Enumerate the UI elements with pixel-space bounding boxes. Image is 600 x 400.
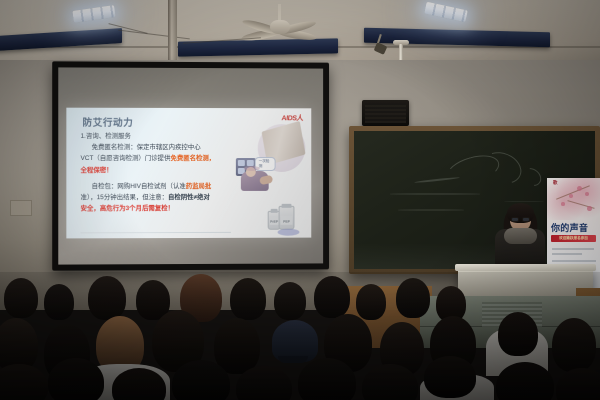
audience-head xyxy=(498,312,538,356)
audience-head xyxy=(356,284,386,320)
audience: 社 xyxy=(0,272,600,400)
audience-head xyxy=(274,282,306,320)
slide-highlight: 3个月后需复检！ xyxy=(126,205,174,212)
slide-line: 自检包：网购HIV自检试剂（认准药监局批 xyxy=(81,181,302,192)
poster-text-line xyxy=(552,248,594,250)
slide-body: 1.咨询、检测服务 免费匿名检测：保定市辖区内疾控中心 VCT（自愿咨询检测）门… xyxy=(81,131,302,215)
audience-head xyxy=(424,356,476,398)
audience-head xyxy=(314,276,350,318)
fan-motor xyxy=(270,20,290,34)
ceiling-fan xyxy=(243,16,317,50)
classroom-photo-scene: 防艾行动力 AIDS人 一次检测 xyxy=(0,0,600,400)
blossom-petal xyxy=(561,202,565,206)
slide-title: 防艾行动力 xyxy=(83,115,134,129)
poster-banner-text: 欢迎踊跃报名参加 xyxy=(551,236,596,241)
audience-head xyxy=(236,366,292,400)
slide-highlight-line: 全程保密！ xyxy=(81,165,302,176)
poster-text-line xyxy=(552,253,582,255)
slide-footer-rule xyxy=(81,232,231,233)
slide-line: VCT（自愿咨询检测）门诊提供免费匿名检测， xyxy=(81,153,302,164)
blossom-petal xyxy=(587,206,592,211)
projection-surface: 防艾行动力 AIDS人 一次检测 xyxy=(58,67,323,264)
slide-line-text: 准），15分钟出结果，但注意： xyxy=(81,194,168,201)
audience-head xyxy=(48,358,104,400)
projection-screen[interactable]: 防艾行动力 AIDS人 一次检测 xyxy=(52,61,329,270)
chalk-mark xyxy=(390,193,480,195)
slide-line-text-bold: 自检阴性≠绝对 xyxy=(168,194,210,201)
poster-top-text: 歌 xyxy=(553,180,557,186)
slide-line: 准），15分钟出结果，但注意：自检阴性≠绝对 xyxy=(81,192,302,204)
cap-brim xyxy=(278,356,308,363)
podium-top-surface xyxy=(455,264,596,271)
poster-text-line xyxy=(552,260,596,262)
audience-head xyxy=(298,358,356,400)
audience-head xyxy=(552,318,596,372)
audience-head xyxy=(4,278,38,318)
presenter-hood xyxy=(504,228,537,244)
poster-red-banner: 欢迎踊跃报名参加 xyxy=(551,235,596,242)
speaker-grill xyxy=(365,103,406,123)
decorative-blob xyxy=(278,229,300,236)
slide-highlight: 免费匿名检测， xyxy=(170,155,215,162)
audience-head xyxy=(396,278,430,318)
slide-section-heading: 1.咨询、检测服务 xyxy=(81,131,302,143)
slide-line-text: 自检包：网购HIV自检试剂（认准 xyxy=(92,183,186,190)
audience-head xyxy=(44,284,74,320)
audience-head xyxy=(0,364,48,400)
audience-head xyxy=(88,276,126,320)
slide-highlight: 药监局批 xyxy=(186,183,212,190)
audience-head xyxy=(172,360,230,400)
wall-speaker xyxy=(362,100,409,126)
glasses-lens xyxy=(522,217,530,222)
presentation-slide: 防艾行动力 AIDS人 一次检测 xyxy=(66,108,311,239)
poster-headline: 你的声音 xyxy=(551,221,588,234)
chalk-mark xyxy=(398,209,464,211)
slide-line-text: VCT（自愿咨询检测）门诊提供 xyxy=(81,155,171,162)
bottle-label-text: PEP xyxy=(280,220,294,224)
chalk-mark xyxy=(478,147,526,190)
audience-head xyxy=(230,278,266,320)
blossom-petal xyxy=(585,192,589,196)
glasses-icon xyxy=(511,217,530,222)
wall-plate xyxy=(10,200,32,216)
blossom-petal xyxy=(569,194,573,198)
slide-line: 安全，高危行为3个月后需复检！ xyxy=(81,203,302,215)
blossom-petal xyxy=(577,186,582,191)
slide-line: 免费匿名检测：保定市辖区内疾控中心 xyxy=(81,142,302,153)
slide-highlight: 安全，高危行为 xyxy=(81,205,126,212)
glasses-lens xyxy=(511,217,519,222)
audience-head xyxy=(556,368,600,400)
chalk-mark xyxy=(519,164,545,189)
